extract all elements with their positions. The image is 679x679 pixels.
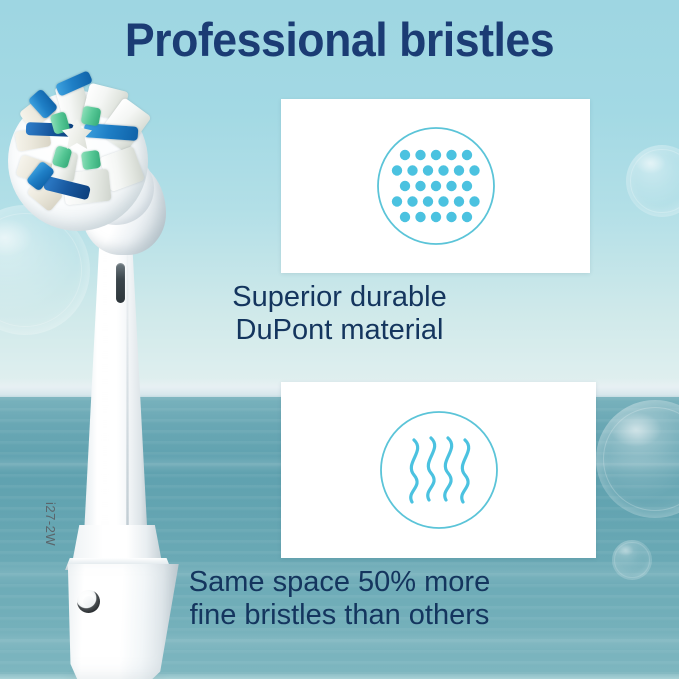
feature-caption-space: Same space 50% more fine bristles than o… — [0, 566, 679, 632]
model-label: i27-2W — [43, 502, 58, 546]
dots-circle-icon — [281, 99, 590, 273]
wave-lines-circle-icon — [281, 382, 596, 558]
brush-neck — [78, 225, 152, 565]
bristle-tuft-green — [81, 150, 101, 170]
product-feature-graphic: Professional bristles — [0, 0, 679, 679]
feature-card-dupont — [281, 99, 590, 273]
feature-card-space — [281, 382, 596, 558]
feature-caption-dupont: Superior durable DuPont material — [0, 281, 679, 347]
bristle-tuft-green — [81, 106, 102, 127]
